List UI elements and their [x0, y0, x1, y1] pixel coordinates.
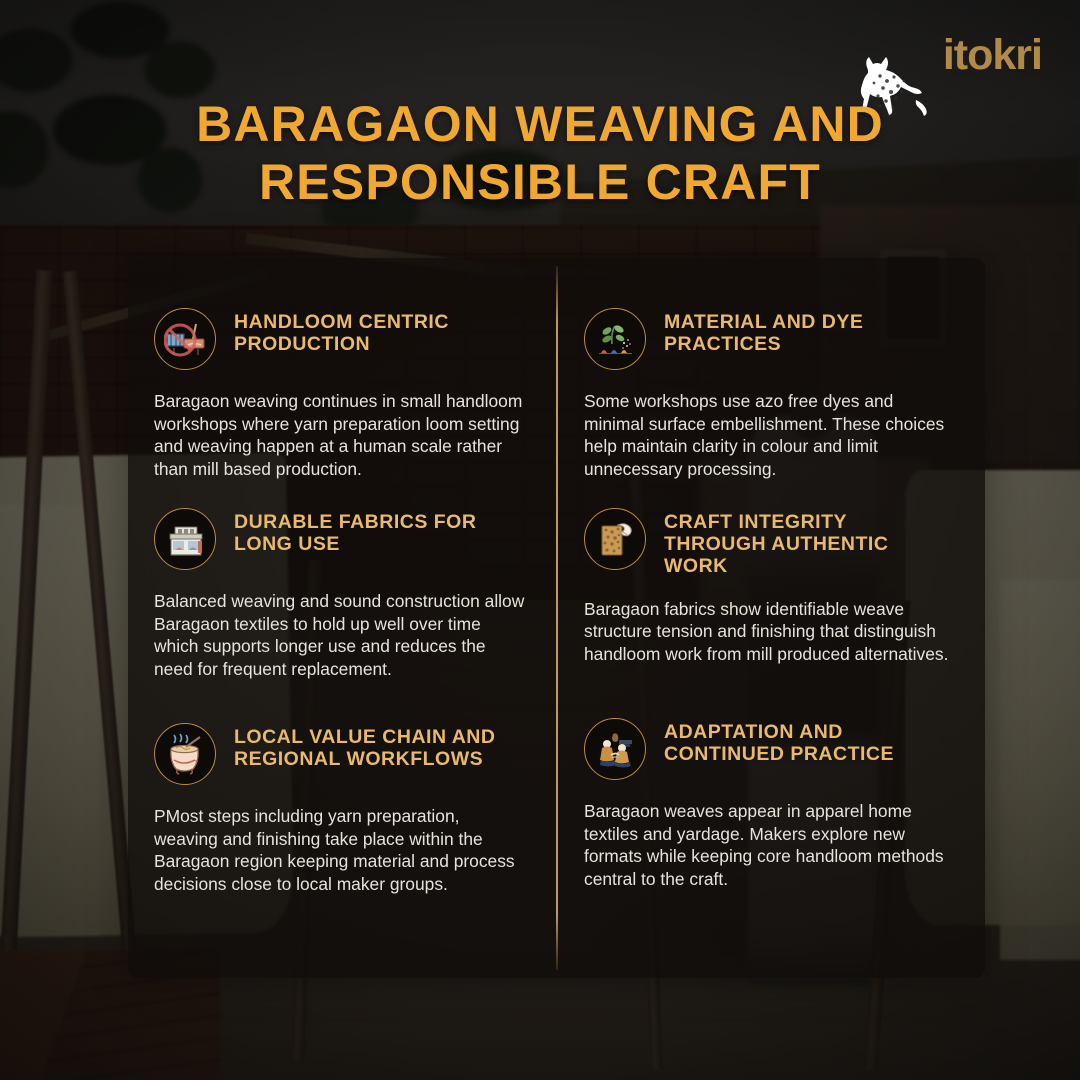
feature-header: LOCAL VALUE CHAIN AND REGIONAL WORKFLOWS: [128, 721, 556, 785]
feature-header: CRAFT INTEGRITY THROUGH AUTHENTIC WORK: [558, 506, 986, 578]
no-mill-loom-icon: [154, 308, 216, 370]
feature-title: ADAPTATION AND CONTINUED PRACTICE: [664, 716, 932, 765]
feature-body: PMost steps including yarn preparation, …: [128, 805, 534, 896]
header: itokri BARAGAON WEAVING AND RESPONSIBLE …: [0, 0, 1080, 230]
two-artisans-icon: [584, 718, 646, 780]
page-title: BARAGAON WEAVING AND RESPONSIBLE CRAFT: [0, 95, 1080, 211]
feature-body: Balanced weaving and sound construction …: [128, 590, 534, 681]
feature-title: LOCAL VALUE CHAIN AND REGIONAL WORKFLOWS: [234, 721, 502, 770]
feature-body: Baragaon weaves appear in apparel home t…: [558, 800, 964, 891]
feature-header: HANDLOOM CENTRIC PRODUCTION: [128, 306, 556, 370]
feature-title: MATERIAL AND DYE PRACTICES: [664, 306, 932, 355]
feature-title: CRAFT INTEGRITY THROUGH AUTHENTIC WORK: [664, 506, 932, 578]
steaming-dye-pot-icon: [154, 723, 216, 785]
feature-block: CRAFT INTEGRITY THROUGH AUTHENTIC WORK B…: [558, 506, 986, 666]
feature-block: ADAPTATION AND CONTINUED PRACTICE Baraga…: [558, 716, 986, 891]
feature-header: DURABLE FABRICS FOR LONG USE: [128, 506, 556, 570]
feature-title: DURABLE FABRICS FOR LONG USE: [234, 506, 502, 555]
feature-block: LOCAL VALUE CHAIN AND REGIONAL WORKFLOWS…: [128, 721, 556, 896]
feature-body: Baragaon fabrics show identifiable weave…: [558, 598, 964, 666]
workshop-building-icon: [154, 508, 216, 570]
plant-dye-powder-icon: [584, 308, 646, 370]
brand-logo: itokri: [943, 34, 1042, 77]
hand-holding-fabric-icon: [584, 508, 646, 570]
feature-title: HANDLOOM CENTRIC PRODUCTION: [234, 306, 502, 355]
left-column: HANDLOOM CENTRIC PRODUCTION Baragaon wea…: [128, 258, 556, 978]
feature-header: ADAPTATION AND CONTINUED PRACTICE: [558, 716, 986, 780]
feature-block: DURABLE FABRICS FOR LONG USE Balanced we…: [128, 506, 556, 681]
logo-text: itokri: [943, 34, 1042, 77]
feature-block: HANDLOOM CENTRIC PRODUCTION Baragaon wea…: [128, 306, 556, 481]
feature-block: MATERIAL AND DYE PRACTICES Some workshop…: [558, 306, 986, 481]
feature-body: Some workshops use azo free dyes and min…: [558, 390, 964, 481]
feature-header: MATERIAL AND DYE PRACTICES: [558, 306, 986, 370]
content-panel: HANDLOOM CENTRIC PRODUCTION Baragaon wea…: [128, 258, 985, 978]
right-column: MATERIAL AND DYE PRACTICES Some workshop…: [558, 258, 986, 978]
feature-body: Baragaon weaving continues in small hand…: [128, 390, 534, 481]
